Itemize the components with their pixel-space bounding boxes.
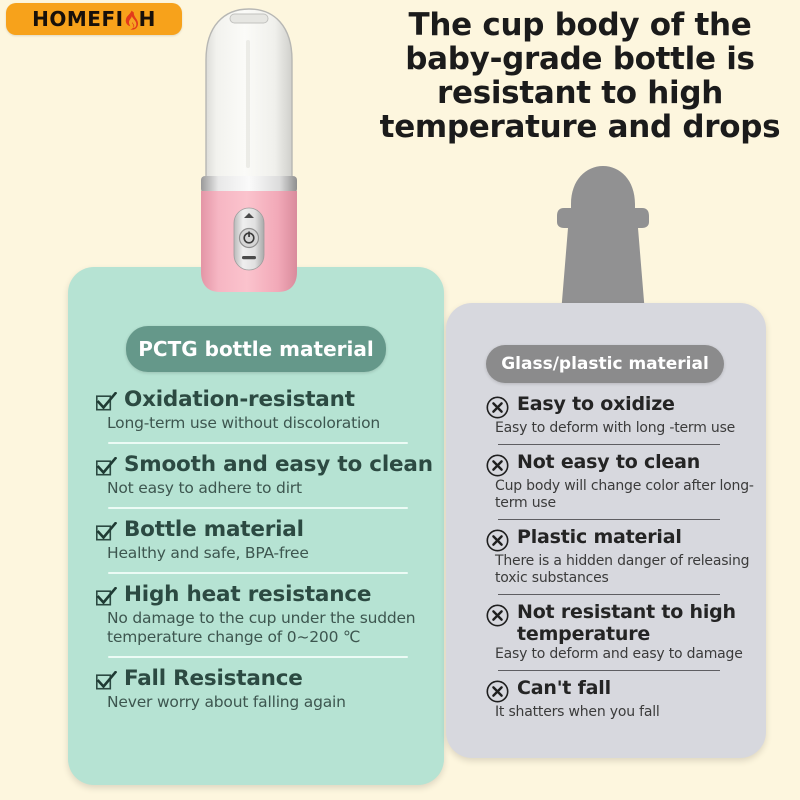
feature-subtitle: Healthy and safe, BPA-free (107, 544, 444, 563)
portable-blender-image (186, 0, 312, 296)
badge-pctg-material: PCTG bottle material (126, 326, 386, 372)
badge-glass-plastic-label: Glass/plastic material (501, 354, 709, 374)
divider (498, 444, 720, 446)
list-item: Bottle material Healthy and safe, BPA-fr… (96, 518, 444, 574)
list-item: Easy to oxidize Easy to deform with long… (486, 394, 756, 445)
check-icon (96, 522, 117, 541)
feature-subtitle: Never worry about falling again (107, 693, 444, 712)
list-item: Fall Resistance Never worry about fallin… (96, 667, 444, 712)
divider (108, 442, 408, 444)
cross-circle-icon (486, 529, 509, 552)
list-item: Not resistant to high temperature Easy t… (486, 602, 756, 671)
cross-circle-icon (486, 604, 509, 627)
list-item: Smooth and easy to clean Not easy to adh… (96, 453, 444, 509)
list-item: Not easy to clean Cup body will change c… (486, 452, 756, 520)
feature-title: Oxidation-resistant (124, 388, 444, 412)
divider (108, 656, 408, 658)
drawback-subtitle: It shatters when you fall (495, 704, 756, 721)
feature-title: High heat resistance (124, 583, 444, 607)
feature-subtitle: No damage to the cup under the sudden te… (107, 609, 444, 647)
divider (498, 594, 720, 596)
infographic-canvas: PCTG bottle material Glass/plastic mater… (0, 0, 800, 800)
brand-logo-text: HOMEFI H (32, 7, 156, 31)
feature-subtitle: Long-term use without discoloration (107, 414, 444, 433)
feature-title: Fall Resistance (124, 667, 444, 691)
drawback-title: Plastic material (517, 527, 756, 548)
feature-title: Bottle material (124, 518, 444, 542)
list-item: High heat resistance No damage to the cu… (96, 583, 444, 658)
drawback-title: Not resistant to high temperature (517, 602, 756, 645)
cross-circle-icon (486, 396, 509, 419)
drawback-subtitle: Easy to deform with long -term use (495, 420, 756, 437)
brand-logo: HOMEFI H (6, 3, 182, 35)
divider (108, 507, 408, 509)
flame-icon (124, 9, 139, 30)
brand-name-before: HOMEFI (32, 7, 123, 31)
drawback-title: Easy to oxidize (517, 394, 756, 415)
drawback-title: Not easy to clean (517, 452, 756, 473)
check-icon (96, 587, 117, 606)
badge-pctg-label: PCTG bottle material (138, 337, 373, 361)
drawback-subtitle: Easy to deform and easy to damage (495, 646, 756, 663)
divider (498, 519, 720, 521)
divider (498, 670, 720, 672)
glass-plastic-drawback-list: Easy to oxidize Easy to deform with long… (486, 394, 756, 721)
drawback-subtitle: There is a hidden danger of releasing to… (495, 553, 756, 587)
drawback-subtitle: Cup body will change color after long-te… (495, 478, 756, 512)
feature-title: Smooth and easy to clean (124, 453, 444, 477)
pctg-feature-list: Oxidation-resistant Long-term use withou… (96, 388, 444, 712)
drawback-title: Can't fall (517, 678, 756, 699)
list-item: Plastic material There is a hidden dange… (486, 527, 756, 595)
list-item: Can't fall It shatters when you fall (486, 678, 756, 721)
page-headline: The cup body of the baby-grade bottle is… (366, 8, 794, 144)
badge-glass-plastic-material: Glass/plastic material (486, 345, 724, 383)
feature-subtitle: Not easy to adhere to dirt (107, 479, 444, 498)
list-item: Oxidation-resistant Long-term use withou… (96, 388, 444, 444)
check-icon (96, 457, 117, 476)
check-icon (96, 671, 117, 690)
divider (108, 572, 408, 574)
brand-name-after: H (139, 7, 156, 31)
check-icon (96, 392, 117, 411)
cross-circle-icon (486, 680, 509, 703)
cross-circle-icon (486, 454, 509, 477)
